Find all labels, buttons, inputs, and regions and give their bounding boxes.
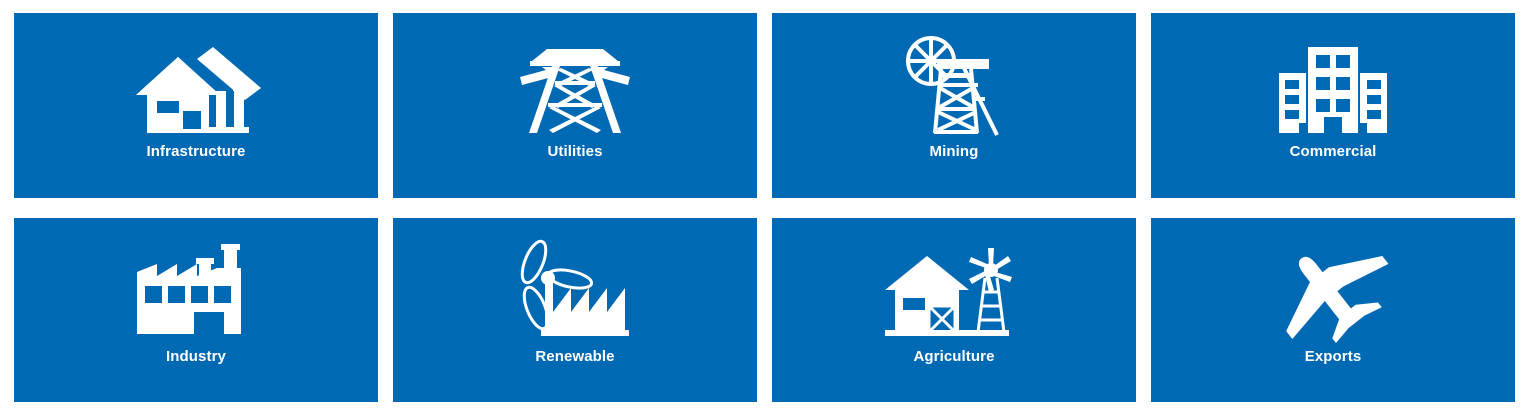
tile-agriculture[interactable]: Agriculture (772, 218, 1136, 403)
factory-smokestacks-icon (121, 242, 271, 342)
tile-exports[interactable]: Exports (1151, 218, 1515, 403)
tile-label: Exports (1305, 348, 1362, 366)
tile-commercial[interactable]: Commercial (1151, 13, 1515, 198)
tile-utilities[interactable]: Utilities (393, 13, 757, 198)
power-transmission-tower-icon (500, 33, 650, 137)
tile-label: Mining (930, 143, 979, 161)
tile-label: Agriculture (913, 348, 994, 366)
tile-label: Infrastructure (147, 143, 246, 161)
tile-industry[interactable]: Industry (14, 218, 378, 403)
airplane-icon (1258, 242, 1408, 342)
office-buildings-icon (1258, 33, 1408, 137)
house-infrastructure-icon (121, 33, 271, 137)
sector-tile-grid: Infrastructure (0, 0, 1529, 415)
mine-headframe-wheel-icon (879, 33, 1029, 137)
tile-renewable[interactable]: Renewable (393, 218, 757, 403)
wind-turbine-factory-icon (500, 242, 650, 342)
tile-infrastructure[interactable]: Infrastructure (14, 13, 378, 198)
tile-mining[interactable]: Mining (772, 13, 1136, 198)
tile-label: Renewable (535, 348, 614, 366)
tile-label: Industry (166, 348, 226, 366)
tile-label: Utilities (547, 143, 602, 161)
barn-windmill-icon (879, 242, 1029, 342)
tile-label: Commercial (1290, 143, 1377, 161)
